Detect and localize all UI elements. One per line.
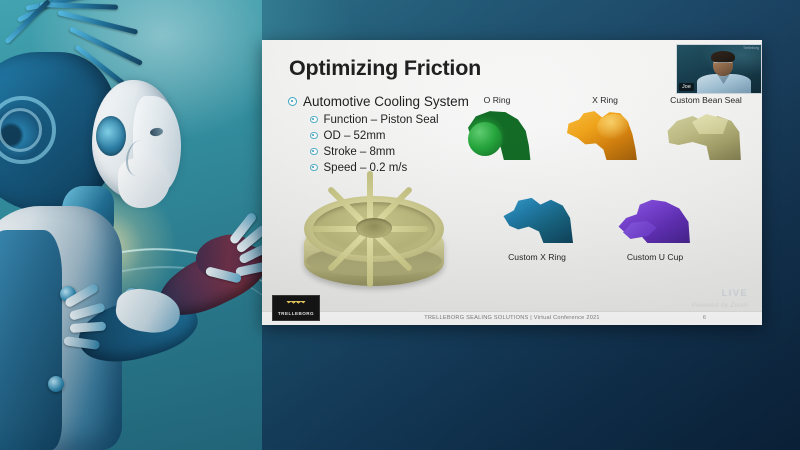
slide-texture xyxy=(262,40,762,325)
robot-elbow-joint xyxy=(124,288,140,304)
trelleborg-logo: TRELLEBORG xyxy=(272,295,320,321)
slide-footer: TRELLEBORG SEALING SOLUTIONS | Virtual C… xyxy=(262,311,762,325)
robot-finger-4 xyxy=(235,261,262,277)
zoom-watermark: Powered by Zoom xyxy=(691,302,748,309)
presenter-hair xyxy=(711,51,735,63)
presenter-torso xyxy=(697,74,751,94)
slide-title: Optimizing Friction xyxy=(289,56,481,81)
robot-cheek-line xyxy=(126,140,152,176)
presenter-head xyxy=(713,54,733,76)
robot-cable-5 xyxy=(69,26,143,66)
seal-label-o-ring: O Ring xyxy=(462,95,532,105)
robot-wrist-joint xyxy=(48,376,64,392)
logo-wordmark: TRELLEBORG xyxy=(278,311,314,316)
robot-second-finger-3 xyxy=(70,321,107,332)
seal-render-x-ring xyxy=(567,108,643,160)
bullet-item-2: OD – 52mm xyxy=(310,130,469,142)
zoom-meeting-stage: Optimizing Friction Automotive Cooling S… xyxy=(0,0,800,450)
footer-page-number: 6 xyxy=(703,315,706,321)
bullet-item-0: Automotive Cooling System xyxy=(288,94,469,109)
presenter-video-tile[interactable]: Trelleborg Joe xyxy=(676,44,762,94)
robot-upper-arm xyxy=(72,285,203,374)
robot-head-ring-outer xyxy=(0,96,56,164)
x-ring-highlight xyxy=(597,114,631,140)
robot-head-ring-inner xyxy=(0,108,42,152)
seal-render-custom-bean-seal xyxy=(666,110,744,160)
bullet-label: OD – 52mm xyxy=(324,130,386,142)
robot-second-finger-4 xyxy=(63,336,100,350)
robot-cable-1 xyxy=(17,0,78,23)
robot-face xyxy=(133,96,181,192)
o-ring-bead xyxy=(468,122,502,156)
bullet-marker-icon xyxy=(310,164,318,172)
bullet-label: Function – Piston Seal xyxy=(324,114,439,126)
robot-ear-module xyxy=(96,116,126,156)
seal-render-custom-x-ring xyxy=(502,195,576,243)
robot-second-finger-2 xyxy=(69,302,106,321)
custom-x-ring-geometry xyxy=(502,195,576,243)
bullet-item-1: Function – Piston Seal xyxy=(310,114,469,126)
bullet-label: Stroke – 8mm xyxy=(324,146,396,158)
bullet-marker-icon xyxy=(310,148,318,156)
piston-hub xyxy=(356,218,392,238)
robot-cable-7 xyxy=(74,45,132,92)
seal-label-x-ring: X Ring xyxy=(570,95,640,105)
crown-icon xyxy=(286,301,306,309)
robot-cable-6 xyxy=(4,0,51,44)
robot-background-artwork xyxy=(0,0,262,450)
bullet-item-3: Stroke – 8mm xyxy=(310,146,469,158)
robot-finger-1 xyxy=(228,211,257,245)
robot-head-machinery xyxy=(0,52,116,212)
robot-eye xyxy=(150,127,164,137)
shared-screen-slide[interactable]: Optimizing Friction Automotive Cooling S… xyxy=(262,40,762,325)
artwork-light-arc-secondary xyxy=(0,250,262,435)
bullet-item-4: Speed – 0.2 m/s xyxy=(310,162,469,174)
x-ring-geometry xyxy=(567,108,643,160)
piston-groove xyxy=(306,246,442,276)
artwork-light-arc xyxy=(0,231,262,450)
glasses-icon xyxy=(714,62,732,66)
robot-torso-panel xyxy=(0,230,62,450)
robot-neck xyxy=(62,186,114,244)
robot-shoulder-joint xyxy=(60,286,76,302)
video-corner-logo: Trelleborg xyxy=(743,46,759,50)
seal-render-custom-u-cup xyxy=(617,195,693,243)
participant-name-badge: Joe xyxy=(679,83,694,91)
live-badge: LIVE xyxy=(722,288,748,299)
seal-render-o-ring xyxy=(468,108,546,160)
slide-canvas: Optimizing Friction Automotive Cooling S… xyxy=(262,40,762,325)
bean-seal-geometry xyxy=(666,110,744,160)
bullet-label: Speed – 0.2 m/s xyxy=(324,162,408,174)
seal-label-custom-bean-seal: Custom Bean Seal xyxy=(656,95,756,105)
robot-palm xyxy=(191,228,259,286)
robot-second-hand xyxy=(113,286,182,336)
video-background xyxy=(677,45,761,93)
custom-u-cup-geometry xyxy=(617,195,693,243)
bean-seal-top-face xyxy=(692,114,728,134)
bullet-marker-icon xyxy=(310,116,318,124)
o-ring-geometry xyxy=(468,108,546,160)
robot-thumb xyxy=(205,266,242,283)
robot-finger-2 xyxy=(235,224,262,254)
robot-cable-2 xyxy=(25,0,96,11)
bullet-marker-icon xyxy=(310,132,318,140)
custom-u-cup-lip xyxy=(623,217,657,239)
bullet-label: Automotive Cooling System xyxy=(303,94,469,109)
robot-forearm xyxy=(151,234,262,328)
robot-torso xyxy=(0,206,122,450)
presenter-collar xyxy=(717,74,730,84)
slide-bullet-list: Automotive Cooling System Function – Pis… xyxy=(288,94,469,178)
seal-label-custom-x-ring: Custom X Ring xyxy=(477,252,597,262)
bullet-marker-icon xyxy=(288,97,297,106)
robot-finger-3 xyxy=(238,241,262,265)
footer-text: TRELLEBORG SEALING SOLUTIONS | Virtual C… xyxy=(424,315,600,321)
robot-jaw xyxy=(118,158,170,208)
piston-cad-render xyxy=(300,190,448,296)
robot-cable-4 xyxy=(57,10,138,35)
artwork-gradient-backdrop xyxy=(0,0,262,450)
robot-cable-3 xyxy=(40,2,118,10)
robot-head xyxy=(92,80,178,200)
robot-second-finger-1 xyxy=(64,283,100,309)
seal-label-custom-u-cup: Custom U Cup xyxy=(595,252,715,262)
